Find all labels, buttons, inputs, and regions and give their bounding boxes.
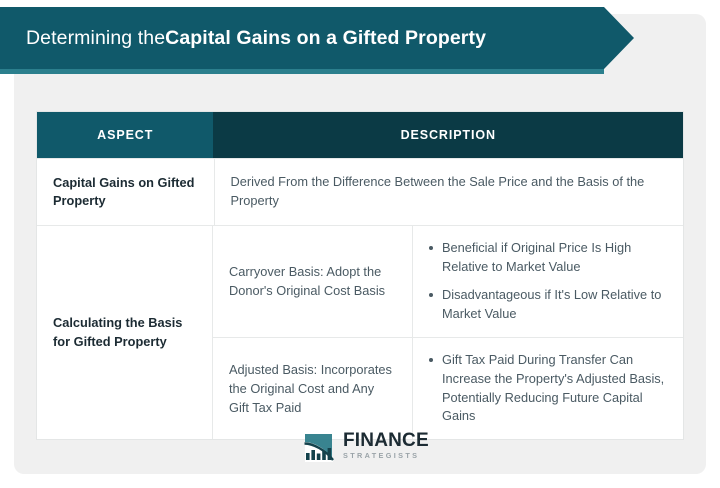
header-banner-underline bbox=[0, 69, 604, 74]
basis-type-text: Adjusted Basis: Incorporates the Origina… bbox=[213, 338, 412, 440]
header-banner: Determining the Capital Gains on a Gifte… bbox=[0, 7, 634, 69]
row-description-group: Carryover Basis: Adopt the Donor's Origi… bbox=[212, 226, 683, 440]
table-subrow: Adjusted Basis: Incorporates the Origina… bbox=[212, 337, 683, 440]
bullet-list: Gift Tax Paid During Transfer Can Increa… bbox=[427, 351, 669, 427]
infographic-canvas: Determining the Capital Gains on a Gifte… bbox=[0, 0, 720, 488]
logo-wordmark: FINANCE STRATEGISTS bbox=[343, 431, 429, 459]
list-item: Gift Tax Paid During Transfer Can Increa… bbox=[442, 351, 669, 427]
basis-notes-cell: Beneficial if Original Price Is High Rel… bbox=[412, 226, 683, 337]
table-row: Capital Gains on Gifted Property Derived… bbox=[37, 158, 683, 225]
page-title-light: Determining the bbox=[26, 27, 165, 50]
logo-primary-text: FINANCE bbox=[343, 431, 429, 450]
table-header-row: ASPECT DESCRIPTION bbox=[37, 112, 683, 158]
list-item: Disadvantageous if It's Low Relative to … bbox=[442, 286, 669, 324]
column-header-aspect: ASPECT bbox=[37, 112, 213, 158]
finance-strategists-logo-icon bbox=[303, 429, 336, 462]
basis-notes-cell: Gift Tax Paid During Transfer Can Increa… bbox=[412, 338, 683, 440]
basis-type-text: Carryover Basis: Adopt the Donor's Origi… bbox=[213, 226, 412, 337]
row-description-text: Derived From the Difference Between the … bbox=[214, 159, 684, 225]
table-row: Calculating the Basis for Gifted Propert… bbox=[37, 225, 683, 440]
logo-secondary-text: STRATEGISTS bbox=[343, 452, 429, 459]
comparison-table: ASPECT DESCRIPTION Capital Gains on Gift… bbox=[36, 111, 684, 440]
page-title: Determining the Capital Gains on a Gifte… bbox=[26, 7, 486, 69]
row-aspect-label: Capital Gains on Gifted Property bbox=[37, 159, 214, 225]
page-title-bold: Capital Gains on a Gifted Property bbox=[165, 27, 486, 50]
table-subrow: Carryover Basis: Adopt the Donor's Origi… bbox=[212, 226, 683, 337]
column-header-description: DESCRIPTION bbox=[213, 112, 683, 158]
row-aspect-label: Calculating the Basis for Gifted Propert… bbox=[37, 226, 212, 440]
bullet-list: Beneficial if Original Price Is High Rel… bbox=[427, 239, 669, 324]
brand-logo: FINANCE STRATEGISTS bbox=[303, 429, 429, 462]
list-item: Beneficial if Original Price Is High Rel… bbox=[442, 239, 669, 277]
